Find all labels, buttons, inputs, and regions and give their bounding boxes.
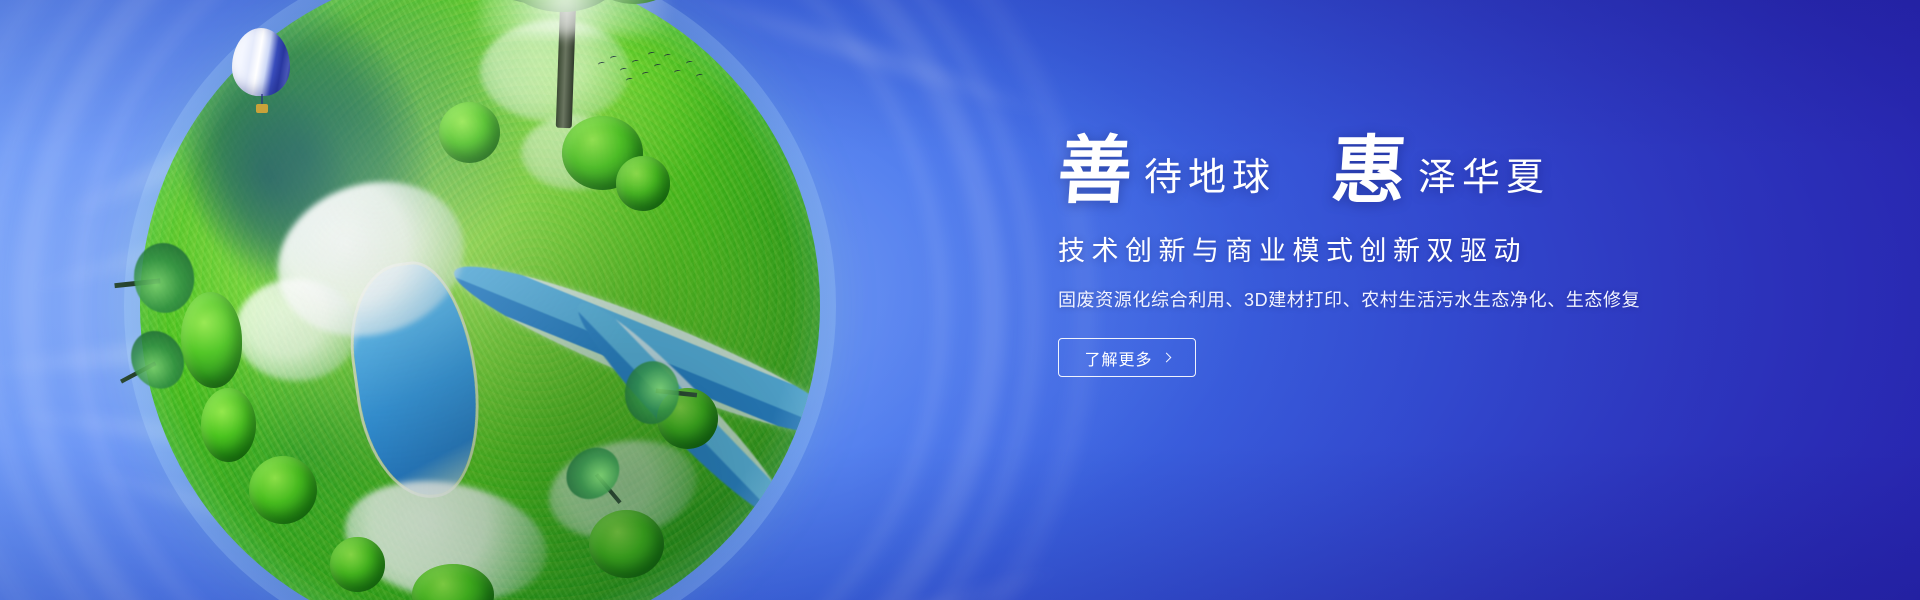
- bird-icon: [642, 71, 650, 76]
- bird-icon: [648, 51, 656, 56]
- bird-icon: [664, 53, 672, 58]
- bird-icon: [626, 77, 634, 82]
- balloon-envelope: [232, 28, 290, 96]
- hot-air-balloon: [232, 28, 294, 128]
- tree-canopy-3: [616, 156, 670, 210]
- bird-icon: [610, 55, 618, 60]
- tree-canopy-5: [201, 388, 255, 463]
- headline-text-zehuaxia: 泽华夏: [1418, 159, 1550, 207]
- bird-icon: [598, 61, 606, 66]
- bird-icon: [674, 69, 682, 74]
- headline: 善 待地球 惠 泽华夏: [1058, 136, 1758, 207]
- bird-icon: [654, 63, 662, 68]
- headline-char-shan: 善: [1056, 136, 1141, 207]
- banner-content: 善 待地球 惠 泽华夏 技术创新与商业模式创新双驱动 固废资源化综合利用、3D建…: [1058, 136, 1758, 377]
- banner-subtitle: 技术创新与商业模式创新双驱动: [1058, 229, 1758, 268]
- chevron-right-icon: [1161, 353, 1171, 363]
- bird-icon: [696, 73, 704, 78]
- tree-canopy-6: [249, 456, 317, 524]
- bird-flock: [596, 50, 716, 90]
- learn-more-label: 了解更多: [1084, 346, 1152, 370]
- learn-more-button[interactable]: 了解更多: [1058, 338, 1196, 377]
- bird-icon: [620, 67, 628, 72]
- banner-description: 固废资源化综合利用、3D建材打印、农村生活污水生态净化、生态修复: [1058, 286, 1758, 312]
- cloud-puff-2: [235, 279, 357, 381]
- tree-canopy-8: [589, 510, 664, 578]
- tree-canopy-4: [181, 292, 242, 387]
- headline-char-hui: 惠: [1330, 136, 1415, 207]
- bird-icon: [686, 60, 694, 65]
- headline-text-daidiqiu: 待地球: [1144, 159, 1276, 207]
- tree-canopy-10: [330, 537, 384, 591]
- bird-icon: [632, 59, 640, 64]
- hero-tree-mist: [480, 0, 670, 36]
- hero-banner: 善 待地球 惠 泽华夏 技术创新与商业模式创新双驱动 固废资源化综合利用、3D建…: [0, 0, 1920, 600]
- balloon-basket: [256, 104, 268, 113]
